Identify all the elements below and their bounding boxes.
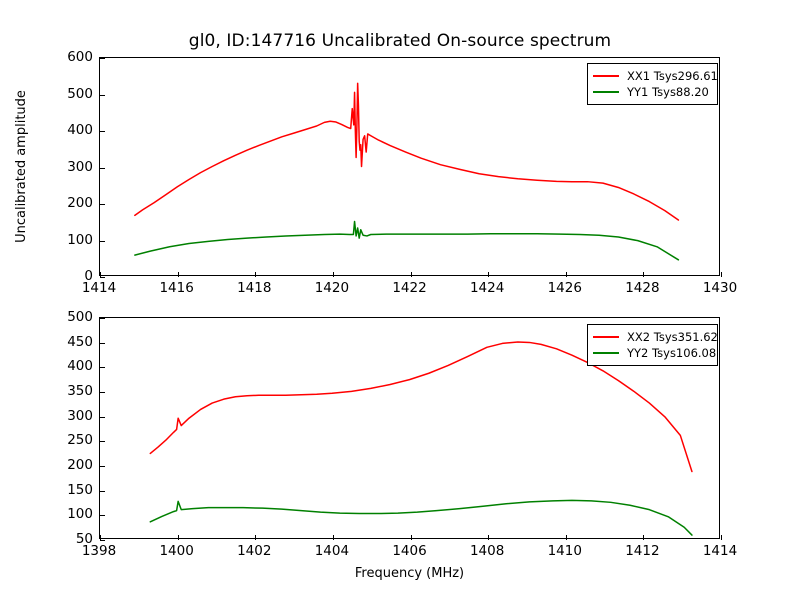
y-tick — [100, 241, 105, 242]
x-tick — [643, 272, 644, 277]
legend-entry: XX2 Tsys351.62 — [593, 329, 711, 345]
x-tick — [643, 535, 644, 540]
x-tick-label: 1412 — [625, 543, 659, 559]
x-tick-label: 1418 — [237, 280, 271, 296]
y-tick — [100, 466, 105, 467]
x-tick-label: 1430 — [703, 280, 737, 296]
legend-entry: YY1 Tsys88.20 — [593, 84, 711, 100]
series-line — [135, 221, 679, 259]
x-tick — [566, 272, 567, 277]
legend-color-swatch — [593, 352, 619, 354]
x-tick-label: 1416 — [159, 280, 193, 296]
x-tick-label: 1404 — [315, 543, 349, 559]
x-tick-label: 1406 — [392, 543, 426, 559]
x-tick — [488, 535, 489, 540]
y-tick-label: 0 — [0, 268, 93, 284]
y-tick — [100, 204, 105, 205]
legend-color-swatch — [593, 75, 619, 77]
x-tick-label: 1428 — [625, 280, 659, 296]
legend-entry-label: YY1 Tsys88.20 — [627, 85, 709, 99]
x-tick — [100, 535, 101, 540]
page-title: gl0, ID:147716 Uncalibrated On-source sp… — [0, 31, 800, 51]
spectrum-figure: gl0, ID:147716 Uncalibrated On-source sp… — [0, 0, 800, 600]
legend-entry: XX1 Tsys296.61 — [593, 68, 711, 84]
x-tick-label: 1408 — [470, 543, 504, 559]
x-tick — [721, 535, 722, 540]
legend-entry-label: YY2 Tsys106.08 — [627, 346, 716, 360]
x-tick — [255, 272, 256, 277]
y-tick-label: 200 — [0, 457, 93, 473]
y-tick — [100, 540, 105, 541]
x-tick — [255, 535, 256, 540]
y-tick-label: 400 — [0, 122, 93, 138]
y-tick-label: 200 — [0, 195, 93, 211]
x-tick — [178, 535, 179, 540]
x-tick — [178, 272, 179, 277]
y-tick — [100, 417, 105, 418]
y-tick-label: 500 — [0, 86, 93, 102]
x-tick — [411, 535, 412, 540]
x-tick — [411, 272, 412, 277]
legend-color-swatch — [593, 91, 619, 93]
y-tick — [100, 168, 105, 169]
x-tick-label: 1398 — [82, 543, 116, 559]
x-tick-label: 1424 — [470, 280, 504, 296]
x-tick — [566, 535, 567, 540]
y-tick-label: 450 — [0, 334, 93, 350]
x-axis-label: Frequency (MHz) — [99, 566, 720, 581]
y-tick — [100, 58, 105, 59]
y-tick-label: 400 — [0, 358, 93, 374]
y-tick-label: 250 — [0, 432, 93, 448]
y-tick-label: 300 — [0, 159, 93, 175]
y-tick-label: 100 — [0, 506, 93, 522]
y-tick-label: 150 — [0, 482, 93, 498]
x-tick — [721, 272, 722, 277]
legend-entry: YY2 Tsys106.08 — [593, 345, 711, 361]
y-tick — [100, 491, 105, 492]
y-tick — [100, 515, 105, 516]
x-tick-label: 1400 — [159, 543, 193, 559]
y-tick — [100, 277, 105, 278]
x-tick-label: 1420 — [315, 280, 349, 296]
y-tick — [100, 131, 105, 132]
y-tick — [100, 343, 105, 344]
x-tick — [100, 272, 101, 277]
y-tick — [100, 392, 105, 393]
y-tick-label: 500 — [0, 309, 93, 325]
bottom-plot-legend: XX2 Tsys351.62YY2 Tsys106.08 — [587, 324, 718, 366]
y-tick-label: 50 — [0, 531, 93, 547]
y-tick — [100, 95, 105, 96]
y-tick-label: 100 — [0, 232, 93, 248]
x-tick — [333, 272, 334, 277]
legend-entry-label: XX2 Tsys351.62 — [627, 330, 718, 344]
x-tick — [488, 272, 489, 277]
y-tick-label: 600 — [0, 49, 93, 65]
legend-color-swatch — [593, 336, 619, 338]
y-tick-label: 300 — [0, 408, 93, 424]
y-tick-label: 350 — [0, 383, 93, 399]
x-tick-label: 1414 — [82, 280, 116, 296]
legend-entry-label: XX1 Tsys296.61 — [627, 69, 718, 83]
x-tick — [333, 535, 334, 540]
x-tick-label: 1414 — [703, 543, 737, 559]
y-tick — [100, 367, 105, 368]
series-line — [150, 500, 692, 535]
x-tick-label: 1422 — [392, 280, 426, 296]
x-tick-label: 1410 — [548, 543, 582, 559]
x-tick-label: 1426 — [548, 280, 582, 296]
y-tick — [100, 318, 105, 319]
y-tick — [100, 441, 105, 442]
x-tick-label: 1402 — [237, 543, 271, 559]
top-plot-legend: XX1 Tsys296.61YY1 Tsys88.20 — [587, 63, 718, 105]
